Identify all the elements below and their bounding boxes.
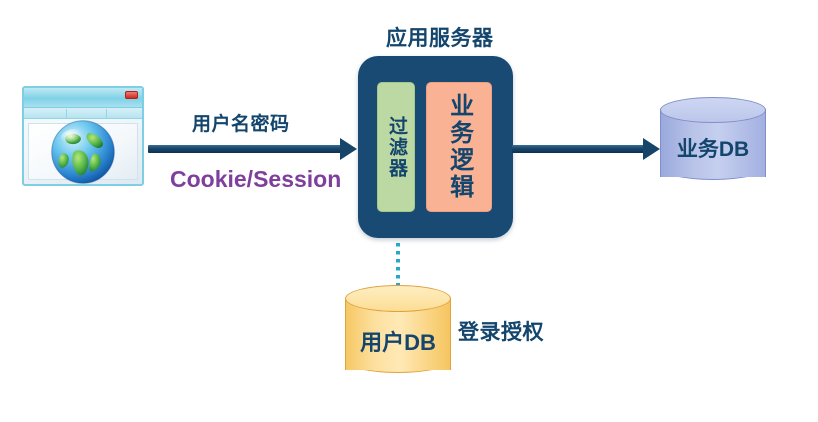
close-icon	[125, 91, 138, 99]
edge-client-to-server-arrowhead	[340, 138, 357, 160]
user-db-label: 用户DB	[345, 325, 451, 357]
browser-titlebar	[24, 88, 142, 108]
business-db-node[interactable]: 业务DB	[660, 97, 766, 189]
edge-server-to-business-db-arrowhead	[643, 138, 660, 160]
login-auth-annotation: 登录授权	[458, 316, 544, 346]
business-logic-component-label: 业务逻辑	[446, 93, 471, 201]
business-db-label: 业务DB	[660, 133, 766, 163]
user-db-node[interactable]: 用户DB	[345, 285, 451, 385]
app-server-title: 应用服务器	[386, 22, 494, 52]
business-logic-component[interactable]: 业务逻辑	[426, 82, 492, 212]
filter-component-label: 过滤器	[386, 116, 406, 179]
edge-label-cookie-session: Cookie/Session	[170, 166, 341, 193]
browser-window-icon	[22, 86, 144, 186]
user-db-top	[345, 285, 451, 312]
edge-client-to-server-line	[148, 145, 344, 153]
filter-component[interactable]: 过滤器	[377, 82, 415, 212]
diagram-canvas: 用户名密码 Cookie/Session 应用服务器 过滤器 业务逻辑 业务DB…	[0, 0, 818, 422]
globe-icon	[49, 118, 117, 186]
edge-server-to-business-db-line	[512, 145, 647, 153]
edge-label-credentials: 用户名密码	[192, 109, 290, 136]
business-db-top	[660, 97, 766, 123]
browser-viewport	[28, 123, 138, 180]
app-server-node[interactable]: 过滤器 业务逻辑	[358, 56, 513, 238]
